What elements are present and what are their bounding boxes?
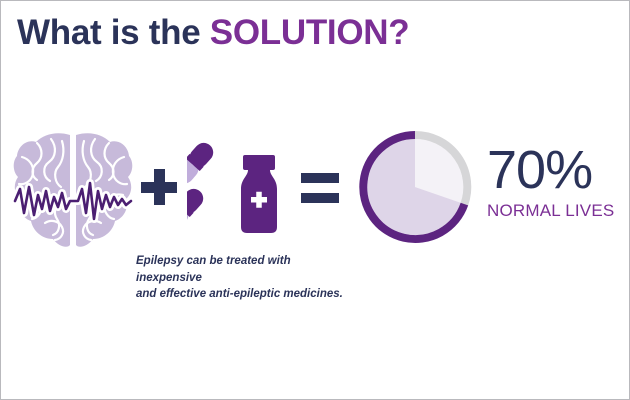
equals-bottom-bar [301,193,339,203]
result-label: NORMAL LIVES [487,201,630,221]
capsule-upper [187,139,217,187]
pie-chart [357,129,473,245]
caption-line-2: and effective anti-epileptic medicines. [136,286,351,303]
infographic-canvas: What is the SOLUTION? [0,0,630,400]
page-title: What is the SOLUTION? [17,13,409,53]
capsule-lower [187,185,207,233]
equals-operator-icon [301,173,339,203]
page-title-accent: SOLUTION? [210,13,410,52]
bottle-cross-vertical [256,192,262,208]
result-block: 70% NORMAL LIVES [487,143,630,221]
result-percentage: 70% [487,143,630,197]
equation-row: 70% NORMAL LIVES [1,111,630,271]
pills-and-bottle-icon [187,133,291,243]
equals-top-bar [301,173,339,183]
caption-line-1: Epilepsy can be treated with inexpensive [136,253,351,286]
page-title-lead: What is the [17,13,210,52]
caption-text: Epilepsy can be treated with inexpensive… [136,253,351,303]
plus-operator-icon [141,169,177,205]
brain-eeg-icon [13,129,133,253]
bottle-cap [243,155,275,170]
plus-vertical-bar [154,169,165,205]
